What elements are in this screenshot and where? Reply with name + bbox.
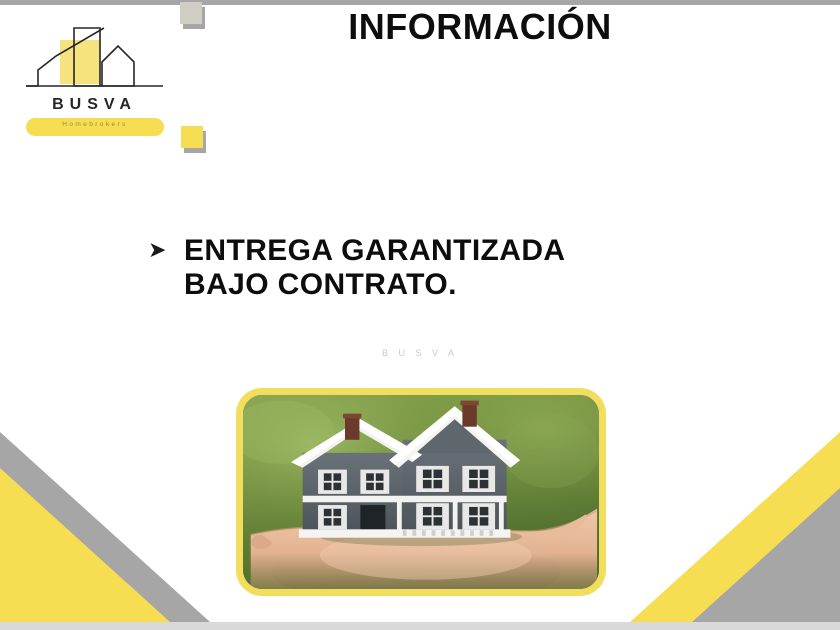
presentation-slide: BUSVA Homebrokers INFORMACIÓN ➤ ENTREGA … xyxy=(0,0,840,630)
corner-yellow-triangle xyxy=(0,468,170,622)
busva-watermark: B U S V A xyxy=(0,348,840,358)
busva-logo: BUSVA Homebrokers xyxy=(22,22,167,137)
logo-name: BUSVA xyxy=(22,96,167,114)
logo-tagline: Homebrokers xyxy=(26,121,164,128)
bullet-text: ENTREGA GARANTIZADA BAJO CONTRATO. xyxy=(184,234,708,302)
bullet-list-item: ➤ ENTREGA GARANTIZADA BAJO CONTRATO. xyxy=(148,234,708,302)
corner-gray-triangle xyxy=(692,488,840,622)
decorative-square-face xyxy=(181,126,203,148)
decorative-square-yellow xyxy=(181,126,209,156)
top-trim-bar xyxy=(0,0,840,5)
busva-building-mark-icon xyxy=(22,22,167,100)
house-in-hand-photo xyxy=(236,388,606,596)
arrow-bullet-icon: ➤ xyxy=(148,234,184,268)
bottom-trim-bar xyxy=(0,622,840,630)
corner-decoration-bottom-left xyxy=(0,432,210,622)
page-title: INFORMACIÓN xyxy=(180,6,780,48)
corner-decoration-bottom-right xyxy=(630,432,840,622)
